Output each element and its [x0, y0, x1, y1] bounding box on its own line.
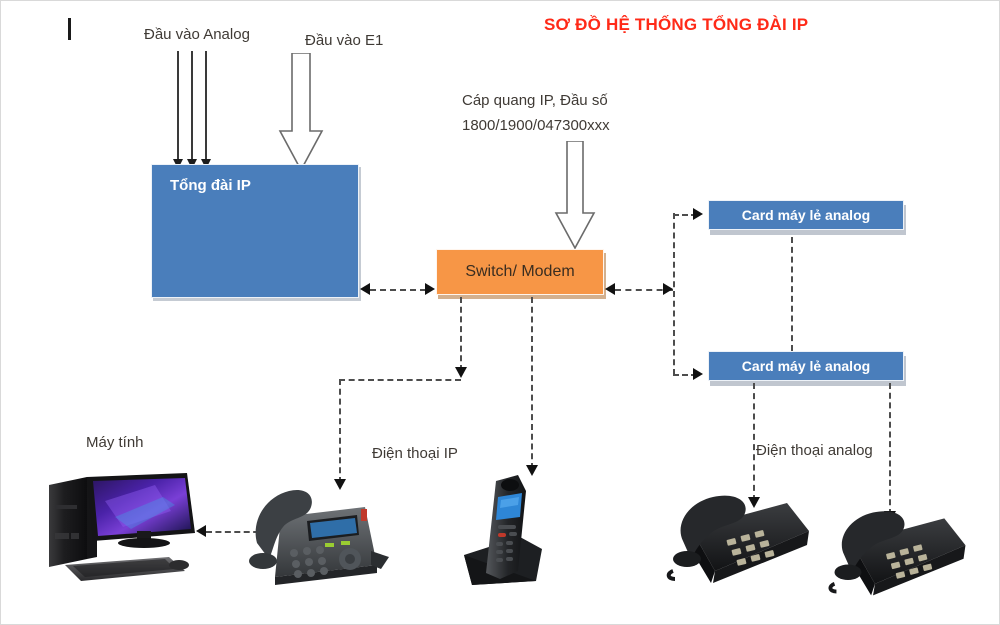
connector-arrowhead-pbx-left: [360, 283, 370, 295]
connector-arrowhead-switch-right: [605, 283, 615, 295]
connector-arrowhead-switch-left: [425, 283, 435, 295]
connector-switch-down-left: [460, 297, 462, 371]
analog-input-line-2: [191, 51, 193, 163]
diagram-canvas: SƠ ĐỒ HỆ THỐNG TỔNG ĐÀI IP Đầu vào Analo…: [0, 0, 1000, 625]
label-computer: Máy tính: [86, 433, 144, 453]
node-card-box-2[interactable]: Card máy lẻ analog: [708, 351, 904, 381]
connector-card2-phone2: [889, 383, 891, 515]
node-card-2-label: Card máy lẻ analog: [742, 358, 870, 374]
label-ip-phone: Điện thoại IP: [372, 444, 458, 464]
connector-arrowhead-trunk: [663, 283, 673, 295]
label-fiber-line-1: Cáp quang IP, Đầu số: [462, 91, 608, 111]
connector-arrowhead-card1: [693, 208, 703, 220]
connector-card-trunk-vertical: [673, 213, 675, 375]
block-down-arrow-fiber: [554, 141, 596, 249]
analog-desk-phone-icon-1: [665, 485, 817, 593]
label-analog-input: Đầu vào Analog: [144, 25, 250, 45]
connector-card1-card2: [791, 237, 793, 351]
connector-ipphone-horizontal: [339, 379, 461, 381]
node-switch-label: Switch/ Modem: [465, 263, 574, 281]
label-analog-phone: Điện thoại analog: [756, 441, 873, 461]
connector-arrowhead-card2: [693, 368, 703, 380]
cordless-phone-icon: [456, 463, 552, 591]
node-switch-box[interactable]: Switch/ Modem: [436, 249, 604, 295]
node-card-box-1[interactable]: Card máy lẻ analog: [708, 200, 904, 230]
node-pbx-label: Tổng đài IP: [170, 177, 251, 194]
analog-input-line-1: [177, 51, 179, 163]
analog-input-line-3: [205, 51, 207, 163]
label-fiber-line-2: 1800/1900/047300xxx: [462, 116, 610, 136]
text-cursor-mark: [68, 18, 71, 40]
connector-switch-down-right: [531, 297, 533, 469]
ip-desk-phone-icon: [247, 473, 389, 591]
connector-arrowhead-switch-down-left: [455, 367, 467, 378]
connector-pbx-switch: [370, 289, 426, 291]
desktop-computer-icon: [45, 471, 205, 589]
label-e1-input: Đầu vào E1: [305, 31, 383, 51]
connector-ipphone-down: [339, 379, 341, 483]
connector-card2-phone1: [753, 383, 755, 501]
analog-desk-phone-icon-2: [825, 501, 975, 605]
block-down-arrow-e1: [278, 53, 324, 171]
node-pbx-box[interactable]: Tổng đài IP: [151, 164, 359, 298]
node-card-1-label: Card máy lẻ analog: [742, 207, 870, 223]
page-title: SƠ ĐỒ HỆ THỐNG TỔNG ĐÀI IP: [544, 15, 808, 35]
